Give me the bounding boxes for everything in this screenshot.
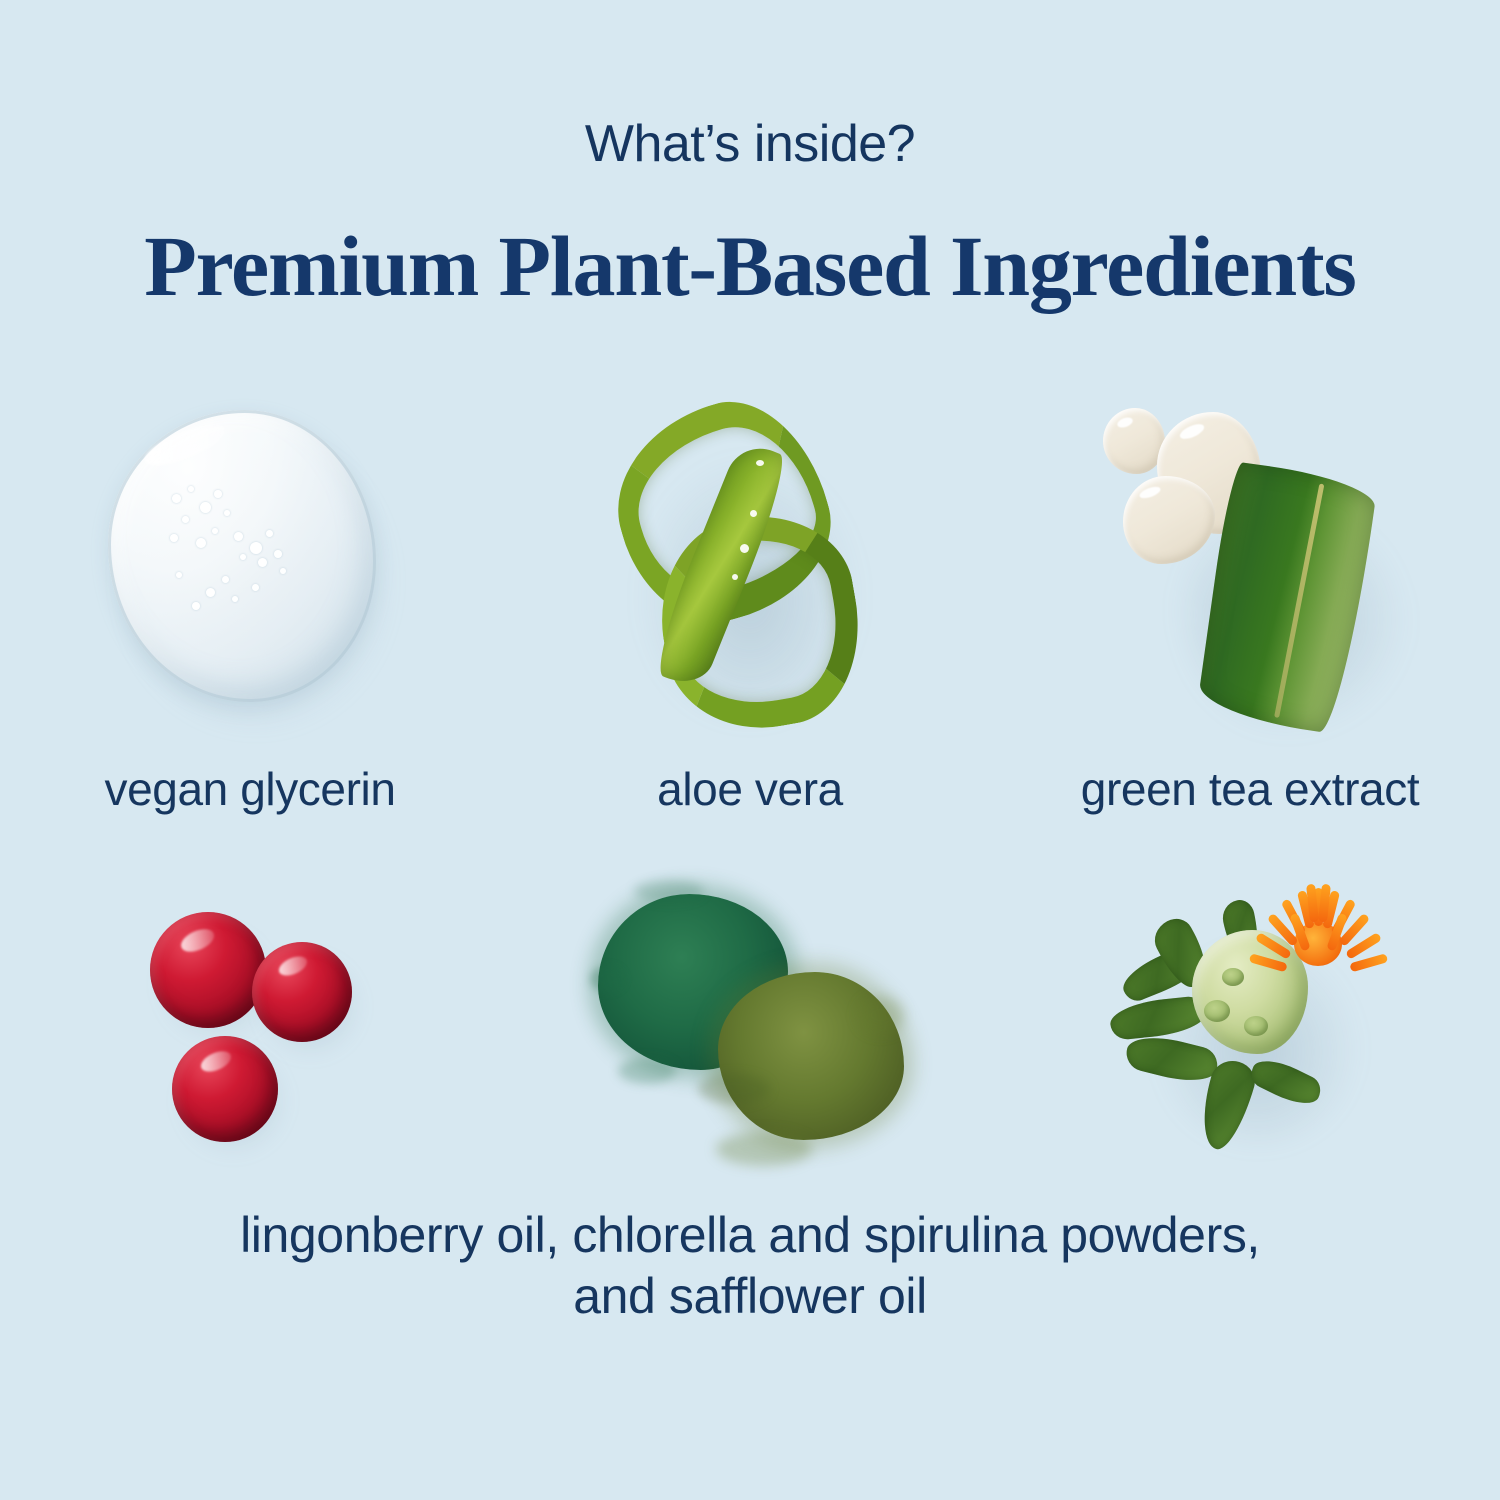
- ingredient-label-vegan-glycerin: vegan glycerin: [0, 762, 500, 816]
- aloe-dew-drop: [750, 510, 757, 517]
- powder-dust: [634, 880, 704, 902]
- safflower-image: [1000, 870, 1500, 1220]
- gel-bubble-cluster: [162, 480, 322, 630]
- ingredient-item-powders: [500, 870, 1000, 1200]
- page-title: Premium Plant-Based Ingredients: [0, 216, 1500, 316]
- ingredient-label-green-tea-extract: green tea extract: [1000, 762, 1500, 816]
- oil-droplet-small: [1103, 408, 1165, 474]
- ingredient-row-2: [0, 870, 1500, 1200]
- ingredient-label-aloe-vera: aloe vera: [500, 762, 1000, 816]
- aloe-dew-drop: [756, 460, 764, 466]
- ingredient-item-green-tea-extract: green tea extract: [1000, 390, 1500, 840]
- berry: [150, 912, 266, 1028]
- ingredient-item-safflower: [1000, 870, 1500, 1200]
- chlorella-spirulina-powder-image: [500, 870, 1000, 1220]
- powder-dust: [590, 966, 624, 992]
- powder-dust: [618, 1058, 676, 1084]
- ingredient-row-1: vegan glycerin aloe vera: [0, 390, 1500, 840]
- aloe-vera-image: [500, 390, 1000, 740]
- tea-leaf-vein: [1274, 483, 1324, 718]
- safflower-bud-scale: [1204, 1000, 1230, 1022]
- safflower-bud-scale: [1222, 968, 1244, 986]
- ingredients-infographic: What’s inside? Premium Plant-Based Ingre…: [0, 0, 1500, 1500]
- bottom-caption: lingonberry oil, chlorella and spirulina…: [0, 1205, 1500, 1327]
- gel-drop-image: [0, 390, 500, 740]
- powder-dust: [858, 996, 904, 1034]
- eyebrow-text: What’s inside?: [0, 114, 1500, 174]
- berry: [172, 1036, 278, 1142]
- ingredient-item-aloe-vera: aloe vera: [500, 390, 1000, 840]
- green-tea-extract-image: [1000, 390, 1500, 740]
- bottom-caption-line-2: and safflower oil: [0, 1266, 1500, 1327]
- powder-dust: [716, 1132, 812, 1166]
- ingredient-item-lingonberry: [0, 870, 500, 1200]
- berry: [252, 942, 352, 1042]
- ingredient-item-vegan-glycerin: vegan glycerin: [0, 390, 500, 840]
- aloe-dew-drop: [740, 544, 749, 553]
- bottom-caption-line-1: lingonberry oil, chlorella and spirulina…: [0, 1205, 1500, 1266]
- safflower-bloom: [1266, 882, 1370, 976]
- safflower-bud-scale: [1244, 1016, 1268, 1036]
- powder-dust: [698, 1074, 770, 1104]
- lingonberry-image: [0, 870, 500, 1220]
- aloe-dew-drop: [732, 574, 738, 580]
